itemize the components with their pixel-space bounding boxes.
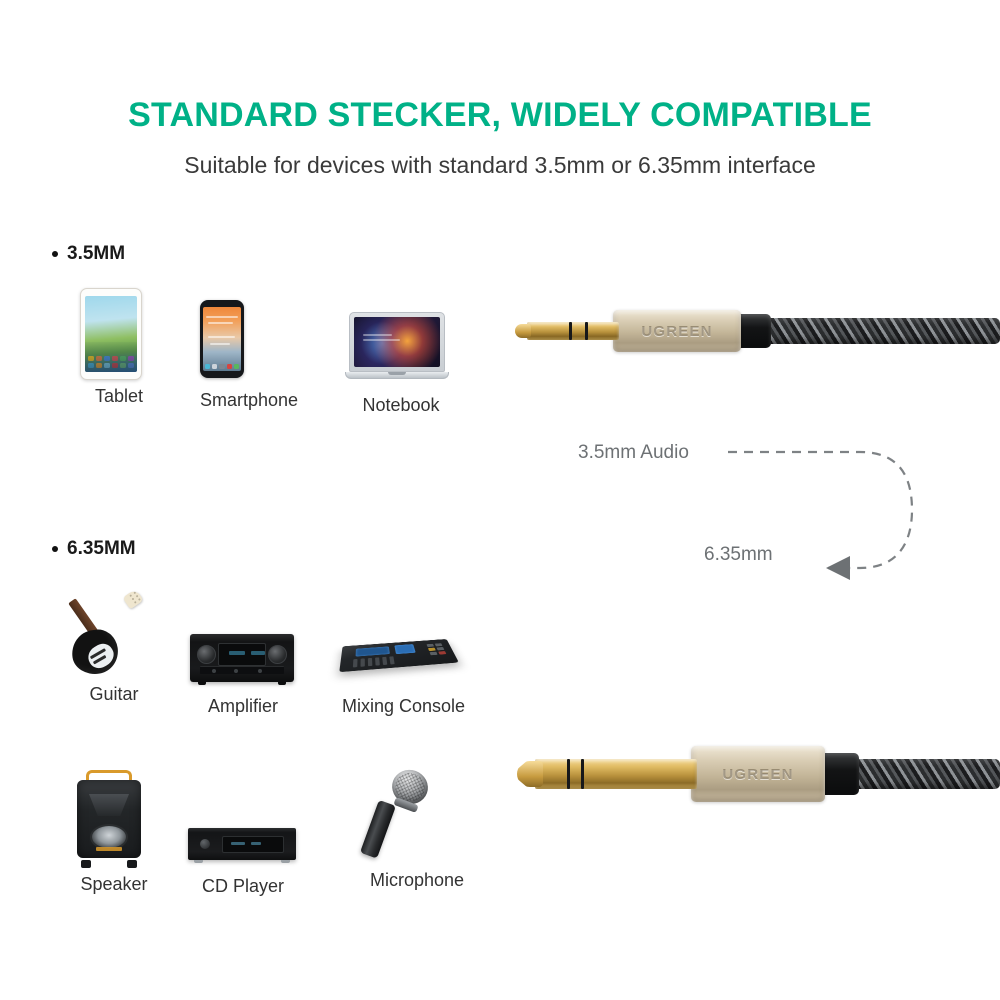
smartphone-icon: [200, 300, 290, 378]
section-label-635mm: 6.35MM: [52, 538, 136, 560]
cd-player-icon: [188, 828, 298, 860]
device-speaker: Speaker: [73, 770, 155, 895]
page-subtitle: Suitable for devices with standard 3.5mm…: [0, 152, 1000, 179]
connector-barrel-635mm: UGREEN: [691, 746, 825, 802]
device-cd-player: CD Player: [188, 828, 298, 897]
microphone-icon: [370, 768, 462, 864]
device-tablet: Tablet: [80, 288, 158, 407]
connector-35mm: UGREEN: [505, 300, 1000, 362]
device-label: CD Player: [188, 876, 298, 897]
gold-pin-635mm: [535, 759, 697, 789]
braided-cable-35mm: [757, 318, 1000, 344]
braided-cable-635mm: [845, 759, 1000, 789]
device-label: Guitar: [68, 684, 160, 705]
connector-635mm: UGREEN: [505, 736, 1000, 812]
mixing-console-icon: [342, 628, 460, 682]
callout-to-label: 6.35mm: [704, 544, 773, 566]
ugreen-logo: UGREEN: [641, 323, 712, 340]
plug-tip-35mm: [515, 324, 531, 338]
bullet-dot-icon: [52, 251, 58, 257]
guitar-icon: [68, 588, 160, 680]
bullet-dot-icon: [52, 546, 58, 552]
notebook-icon: [345, 312, 457, 379]
device-label: Amplifier: [190, 696, 296, 717]
device-smartphone: Smartphone: [200, 300, 290, 411]
device-label: Microphone: [370, 870, 462, 891]
device-label: Mixing Console: [342, 696, 460, 717]
device-notebook: Notebook: [345, 312, 457, 416]
tablet-icon: [80, 288, 158, 380]
product-infographic: STANDARD STECKER, WIDELY COMPATIBLE Suit…: [0, 0, 1000, 1000]
section-label-text: 6.35MM: [67, 538, 136, 560]
device-label: Notebook: [345, 395, 457, 416]
device-microphone: Microphone: [370, 768, 462, 891]
speaker-icon: [73, 770, 155, 866]
section-label-text: 3.5MM: [67, 243, 125, 265]
device-amplifier: Amplifier: [190, 634, 296, 717]
device-label: Speaker: [73, 874, 155, 895]
device-guitar: Guitar: [68, 588, 160, 705]
section-label-35mm: 3.5MM: [52, 243, 125, 265]
flow-callout: 3.5mm Audio 6.35mm: [560, 420, 940, 600]
amplifier-icon: [190, 634, 296, 682]
device-label: Smartphone: [200, 390, 290, 411]
gold-pin-35mm: [527, 322, 619, 340]
device-label: Tablet: [80, 386, 158, 407]
callout-from-label: 3.5mm Audio: [578, 442, 689, 464]
connector-barrel-35mm: UGREEN: [613, 310, 741, 352]
page-title: STANDARD STECKER, WIDELY COMPATIBLE: [0, 96, 1000, 135]
ugreen-logo: UGREEN: [722, 766, 793, 783]
plug-tip-635mm: [517, 761, 543, 787]
device-mixing-console: Mixing Console: [342, 628, 460, 717]
